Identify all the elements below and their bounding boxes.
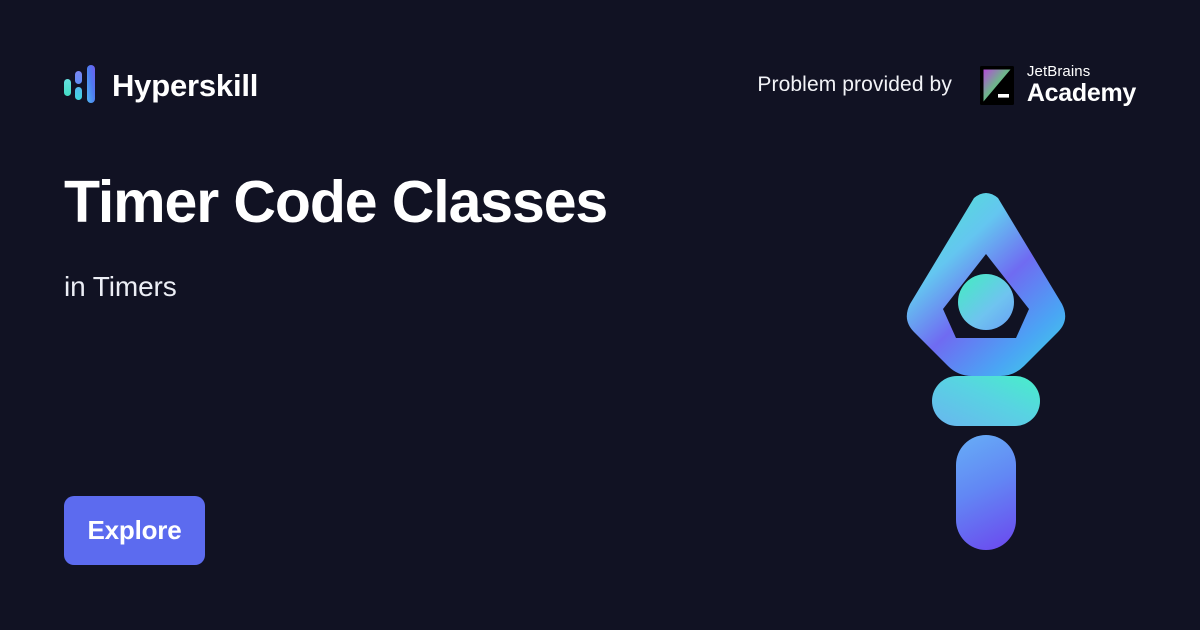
emblem-pill bbox=[932, 376, 1040, 426]
header: Hyperskill Problem provided by bbox=[64, 56, 1136, 114]
page-title: Timer Code Classes bbox=[64, 170, 884, 235]
hyperskill-bars-icon bbox=[64, 63, 96, 107]
jetbrains-academy-logo[interactable]: JetBrains Academy bbox=[980, 64, 1136, 106]
emblem-stem bbox=[956, 435, 1016, 550]
hyperskill-brand[interactable]: Hyperskill bbox=[64, 63, 258, 107]
academy-word: Academy bbox=[1027, 81, 1136, 106]
explore-button[interactable]: Explore bbox=[64, 496, 205, 565]
provider-credit: Problem provided by bbox=[757, 64, 1136, 106]
page-subtitle: in Timers bbox=[64, 271, 884, 303]
main-content: Timer Code Classes in Timers bbox=[64, 170, 884, 303]
share-card: Hyperskill Problem provided by bbox=[0, 0, 1200, 630]
jetbrains-square-icon bbox=[980, 66, 1014, 105]
provider-label: Problem provided by bbox=[757, 73, 952, 97]
hyperskill-torch-emblem-icon bbox=[896, 180, 1076, 560]
emblem-center-dot bbox=[958, 274, 1014, 330]
jetbrains-academy-wordmark: JetBrains Academy bbox=[1027, 64, 1136, 106]
hyperskill-wordmark: Hyperskill bbox=[112, 70, 258, 101]
jetbrains-word: JetBrains bbox=[1027, 64, 1136, 79]
